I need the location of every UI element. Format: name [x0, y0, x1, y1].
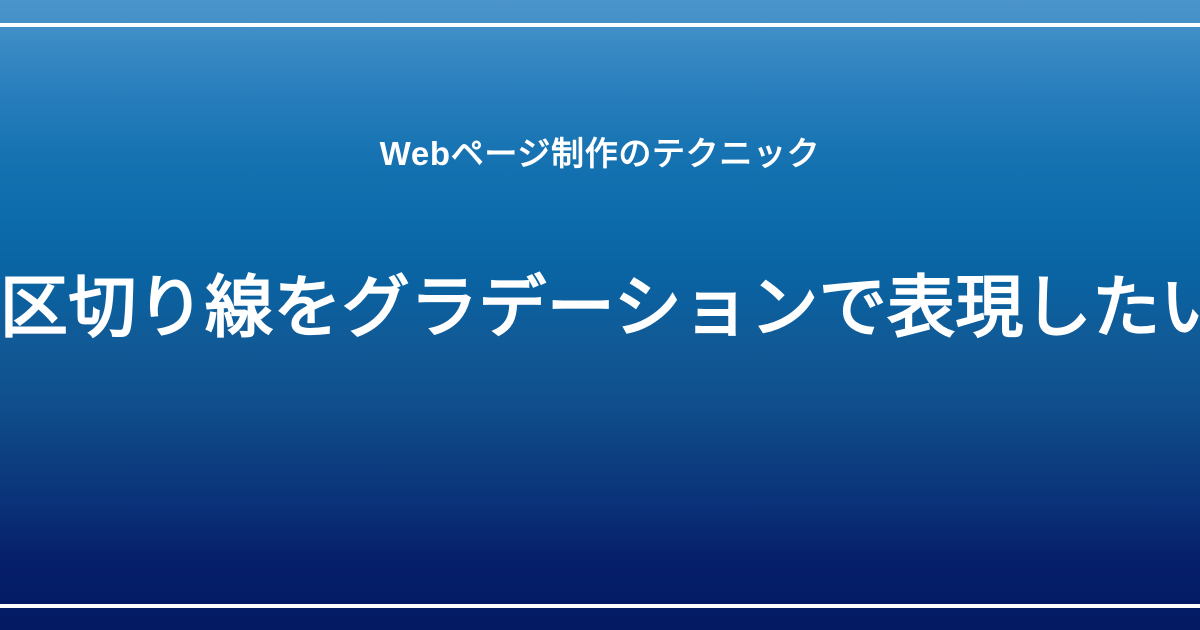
bottom-divider-rule	[0, 604, 1200, 608]
banner-content: Webページ制作のテクニック 区切り線をグラデーションで表現したい	[0, 0, 1200, 630]
banner-title: 区切り線をグラデーションで表現したい	[0, 268, 1200, 348]
og-banner: Webページ制作のテクニック 区切り線をグラデーションで表現したい	[0, 0, 1200, 630]
banner-subtitle: Webページ制作のテクニック	[0, 133, 1200, 176]
top-divider-rule	[0, 23, 1200, 27]
